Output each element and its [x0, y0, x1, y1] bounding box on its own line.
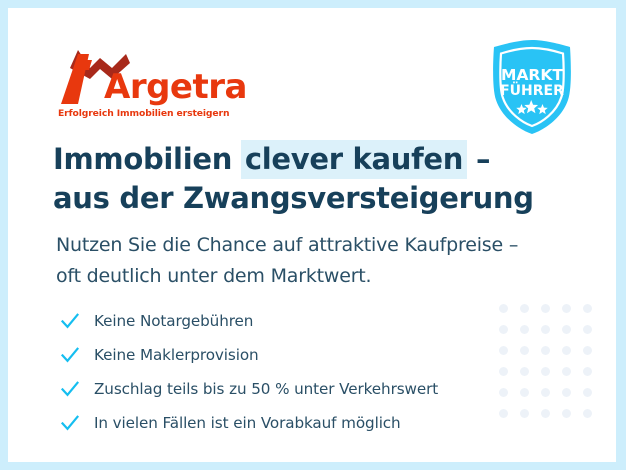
- badge-line2: FÜHRER: [500, 81, 564, 99]
- logo-tagline: Erfolgreich Immobilien ersteigern: [58, 108, 229, 119]
- dot: [562, 346, 571, 355]
- list-item-label: Zuschlag teils bis zu 50 % unter Verkehr…: [94, 380, 438, 398]
- headline-highlight: clever kaufen: [241, 140, 467, 179]
- list-item: Keine Maklerprovision: [60, 339, 438, 370]
- badge-line1: MARKT: [501, 66, 563, 84]
- dot: [541, 304, 550, 313]
- dot: [499, 367, 508, 376]
- dot: [499, 409, 508, 418]
- dot: [583, 325, 592, 334]
- dot: [520, 367, 529, 376]
- dot: [541, 325, 550, 334]
- dot: [520, 304, 529, 313]
- promo-banner: Argetra Erfolgreich Immobilien ersteiger…: [0, 0, 626, 470]
- dot: [499, 388, 508, 397]
- headline-line-1: Immobilien clever kaufen –: [53, 140, 534, 179]
- headline-text-before: Immobilien: [53, 142, 242, 176]
- dot: [562, 409, 571, 418]
- dot: [583, 409, 592, 418]
- dot: [562, 304, 571, 313]
- shield-badge-icon: MARKT FÜHRER: [486, 38, 578, 136]
- check-icon: [60, 413, 80, 433]
- dot: [541, 367, 550, 376]
- dot: [520, 388, 529, 397]
- list-item-label: In vielen Fällen ist ein Vorabkauf mögli…: [94, 414, 401, 432]
- dot: [499, 325, 508, 334]
- dot-grid-decoration: [499, 304, 604, 430]
- check-icon: [60, 345, 80, 365]
- list-item: Zuschlag teils bis zu 50 % unter Verkehr…: [60, 373, 438, 404]
- dot: [541, 388, 550, 397]
- dot: [583, 346, 592, 355]
- headline-text-after: –: [466, 142, 490, 176]
- subheadline-line-1: Nutzen Sie die Chance auf attraktive Kau…: [56, 230, 518, 261]
- check-icon: [60, 311, 80, 331]
- list-item-label: Keine Notargebühren: [94, 312, 253, 330]
- dot: [562, 388, 571, 397]
- subheadline-line-2: oft deutlich unter dem Marktwert.: [56, 261, 518, 292]
- dot: [499, 346, 508, 355]
- subheadline: Nutzen Sie die Chance auf attraktive Kau…: [56, 230, 518, 292]
- benefit-list: Keine Notargebühren Keine Maklerprovisio…: [60, 305, 438, 441]
- dot: [520, 409, 529, 418]
- dot: [583, 367, 592, 376]
- banner-card: Argetra Erfolgreich Immobilien ersteiger…: [8, 8, 616, 462]
- list-item: Keine Notargebühren: [60, 305, 438, 336]
- dot: [583, 388, 592, 397]
- dot: [541, 346, 550, 355]
- logo-wordmark: Argetra: [104, 70, 247, 104]
- dot: [520, 325, 529, 334]
- argetra-logo[interactable]: Argetra Erfolgreich Immobilien ersteiger…: [56, 46, 256, 118]
- check-icon: [60, 379, 80, 399]
- dot: [562, 325, 571, 334]
- list-item-label: Keine Maklerprovision: [94, 346, 259, 364]
- dot: [499, 304, 508, 313]
- list-item: In vielen Fällen ist ein Vorabkauf mögli…: [60, 407, 438, 438]
- dot: [583, 304, 592, 313]
- dot: [520, 346, 529, 355]
- page-title: Immobilien clever kaufen – aus der Zwang…: [53, 140, 534, 218]
- dot: [541, 409, 550, 418]
- dot: [562, 367, 571, 376]
- headline-line-2: aus der Zwangsversteigerung: [53, 179, 534, 218]
- market-leader-badge: MARKT FÜHRER: [486, 38, 578, 136]
